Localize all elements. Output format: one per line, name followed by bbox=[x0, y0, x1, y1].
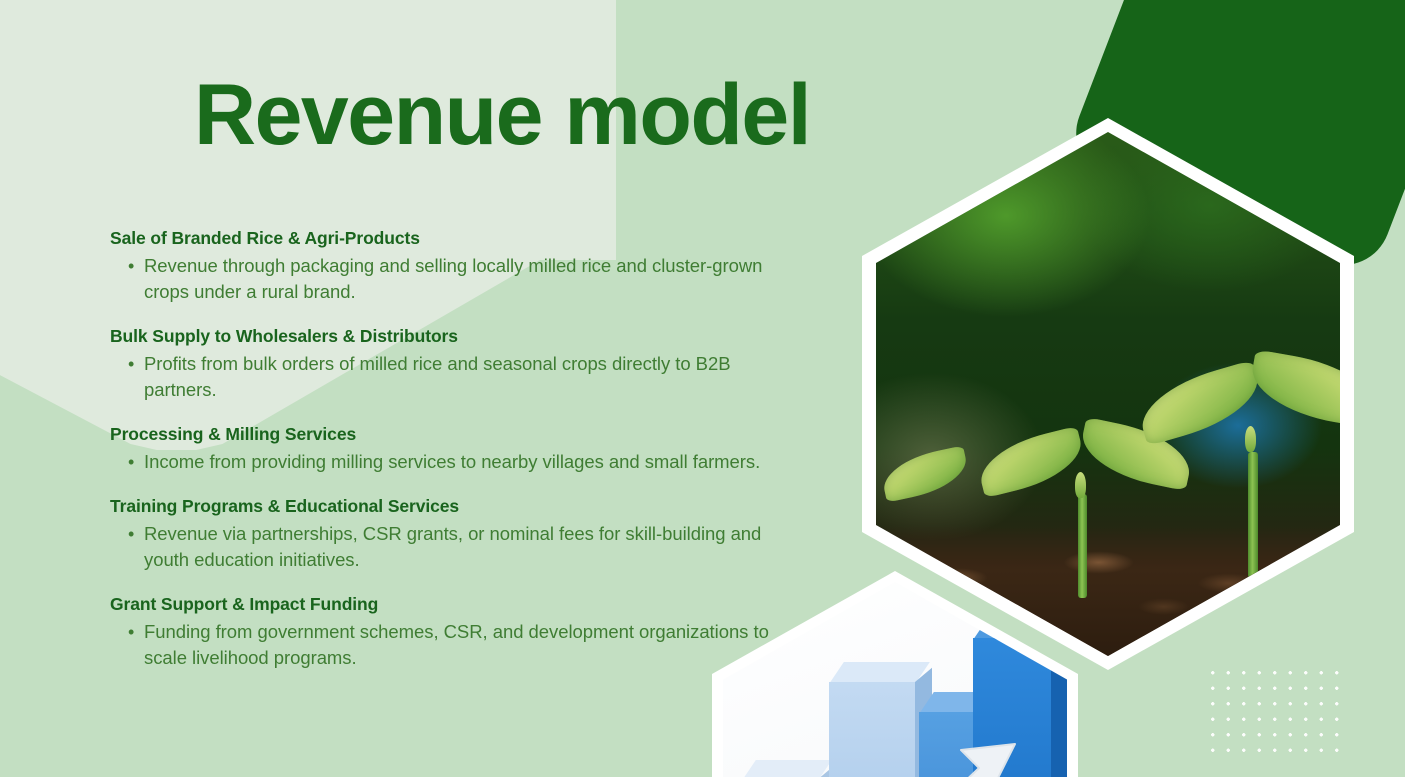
section-bullet-row: • Revenue through packaging and selling … bbox=[110, 253, 800, 305]
section-bullet-row: • Funding from government schemes, CSR, … bbox=[110, 619, 800, 671]
bullet-icon: • bbox=[128, 253, 144, 279]
bullet-icon: • bbox=[128, 449, 144, 475]
bullet-icon: • bbox=[128, 521, 144, 547]
section-bullet-row: • Revenue via partnerships, CSR grants, … bbox=[110, 521, 800, 573]
section-heading: Training Programs & Educational Services bbox=[110, 496, 800, 517]
section-body: Revenue through packaging and selling lo… bbox=[144, 253, 800, 305]
stem bbox=[1248, 452, 1258, 578]
section-heading: Processing & Milling Services bbox=[110, 424, 800, 445]
page-title: Revenue model bbox=[194, 70, 810, 160]
list-item: Bulk Supply to Wholesalers & Distributor… bbox=[110, 326, 800, 403]
section-heading: Sale of Branded Rice & Agri-Products bbox=[110, 228, 800, 249]
list-item: Training Programs & Educational Services… bbox=[110, 496, 800, 573]
slide-revenue-model: Revenue model Sale of Branded Rice & Agr… bbox=[0, 0, 1405, 777]
section-heading: Grant Support & Impact Funding bbox=[110, 594, 800, 615]
hexagon-photo-graphic bbox=[862, 118, 1354, 670]
bud bbox=[1245, 426, 1256, 452]
leaf-right bbox=[1246, 349, 1382, 428]
section-heading: Bulk Supply to Wholesalers & Distributor… bbox=[110, 326, 800, 347]
sprout-right bbox=[1144, 356, 1374, 586]
section-body: Profits from bulk orders of milled rice … bbox=[144, 351, 800, 403]
section-bullet-row: • Income from providing milling services… bbox=[110, 449, 800, 475]
dotted-grid-pattern bbox=[1203, 663, 1343, 755]
list-item: Processing & Milling Services • Income f… bbox=[110, 424, 800, 475]
leaf bbox=[879, 445, 971, 502]
bullet-icon: • bbox=[128, 619, 144, 645]
list-item: Grant Support & Impact Funding • Funding… bbox=[110, 594, 800, 671]
section-body: Funding from government schemes, CSR, an… bbox=[144, 619, 800, 671]
revenue-stream-list: Sale of Branded Rice & Agri-Products • R… bbox=[110, 228, 800, 671]
section-body: Income from providing milling services t… bbox=[144, 449, 800, 475]
section-body: Revenue via partnerships, CSR grants, or… bbox=[144, 521, 800, 573]
list-item: Sale of Branded Rice & Agri-Products • R… bbox=[110, 228, 800, 305]
bud bbox=[1075, 472, 1086, 498]
bullet-icon: • bbox=[128, 351, 144, 377]
stem bbox=[1078, 494, 1087, 598]
section-bullet-row: • Profits from bulk orders of milled ric… bbox=[110, 351, 800, 403]
leaf-left bbox=[974, 426, 1088, 498]
